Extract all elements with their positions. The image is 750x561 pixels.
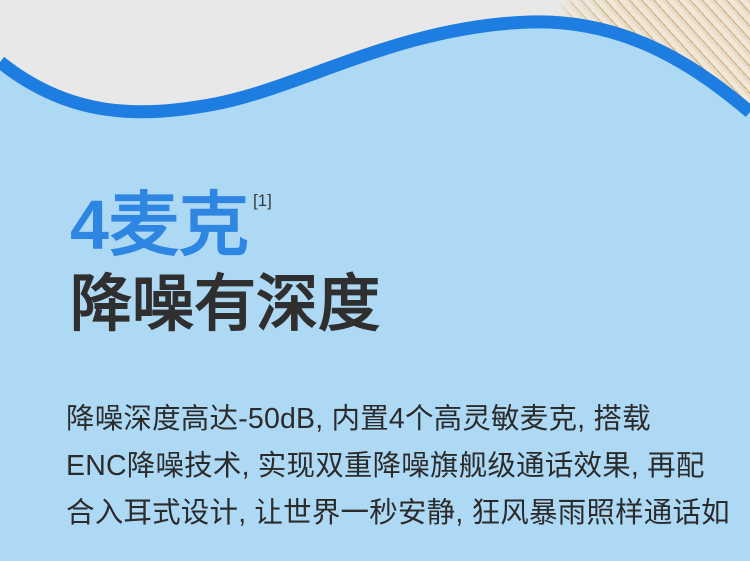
headline-block: 4麦克 [1] 降噪有深度 (70, 186, 690, 340)
headline-primary-text: 4麦克 (70, 186, 249, 264)
body-copy: 降噪深度高达-50dB, 内置4个高灵敏麦克, 搭载 ENC降噪技术, 实现双重… (66, 396, 706, 537)
body-copy-line: ENC降噪技术, 实现双重降噪旗舰级通话效果, 再配 (66, 443, 706, 490)
headline-primary: 4麦克 [1] (70, 186, 690, 264)
body-copy-line: 降噪深度高达-50dB, 内置4个高灵敏麦克, 搭载 (66, 396, 706, 443)
headline-secondary: 降噪有深度 (70, 270, 690, 340)
footnote-marker: [1] (253, 192, 272, 209)
banner-content: 4麦克 [1] 降噪有深度 降噪深度高达-50dB, 内置4个高灵敏麦克, 搭载… (0, 0, 750, 561)
product-feature-banner: 4麦克 [1] 降噪有深度 降噪深度高达-50dB, 内置4个高灵敏麦克, 搭载… (0, 0, 750, 561)
body-copy-line: 合入耳式设计, 让世界一秒安静, 狂风暴雨照样通话如 (66, 490, 706, 537)
